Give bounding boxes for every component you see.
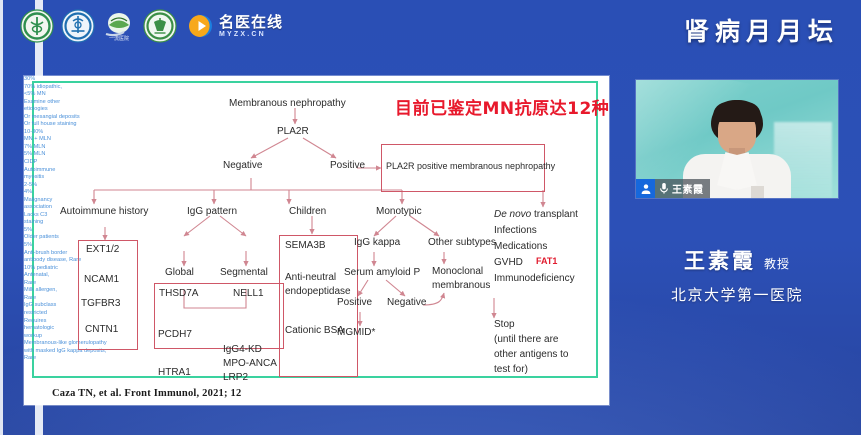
page-title: 肾病月月坛 xyxy=(684,12,839,48)
node-cntn1: CNTN1 xyxy=(85,324,118,336)
node-de-novo-rest: transplant xyxy=(531,209,578,220)
seal-logo-4-icon xyxy=(143,9,177,43)
node-children: Children xyxy=(289,206,326,218)
node-igg-pattern: IgG pattern xyxy=(187,206,237,218)
node-de-novo-transplant: De novo transplant xyxy=(494,209,578,221)
node-pla2r: PLA2R xyxy=(277,126,309,138)
speaker-role: 教授 xyxy=(764,255,790,272)
node-monoclonal-2: membranous xyxy=(432,280,490,292)
node-medications: Medications xyxy=(494,241,547,253)
video-tile[interactable]: 王素霞 xyxy=(636,80,838,198)
seal-logo-1-icon xyxy=(20,9,54,43)
logo-row: 一流医院 xyxy=(20,9,283,43)
speaker-organization: 北京大学第一医院 xyxy=(636,284,838,305)
brand-logo: 名医在线 MYZX.CN xyxy=(188,13,283,39)
speaker-info: 王素霞 教授 北京大学第一医院 xyxy=(636,245,838,305)
header-bar: 一流医院 xyxy=(0,0,861,62)
diagram-canvas: 目前已鉴定MN抗原达12种 Membranous nephropathy PLA… xyxy=(24,76,609,405)
seal-logo-3-icon: 一流医院 xyxy=(102,9,136,43)
node-lrp2: LRP2 xyxy=(223,372,248,384)
webinar-page: 一流医院 xyxy=(0,0,861,435)
node-anti-neutral-1: Anti-neutral xyxy=(285,272,336,284)
node-ncam1: NCAM1 xyxy=(84,274,119,286)
slide-cn-headline: 目前已鉴定MN抗原达12种 xyxy=(395,94,609,119)
node-other-subtypes: Other subtypes xyxy=(428,237,496,249)
node-serum-amyloid-p: Serum amyloid P xyxy=(344,267,420,279)
slide-citation: Caza TN, et al. Front Immunol, 2021; 12 xyxy=(52,388,241,399)
node-ext12: EXT1/2 xyxy=(86,244,119,256)
node-anti-neutral-2: endopeptidase xyxy=(285,286,351,298)
node-immunodeficiency: Immunodeficiency xyxy=(494,273,575,285)
video-name-tag: 王素霞 xyxy=(636,179,710,198)
node-de-novo-italic: De novo xyxy=(494,209,531,220)
node-negative: Negative xyxy=(223,160,262,172)
node-pcdh7: PCDH7 xyxy=(158,329,192,341)
play-button-icon xyxy=(188,13,214,39)
node-cationic-bsa: Cationic BSA xyxy=(285,325,344,337)
node-gvhd: GVHD xyxy=(494,257,523,269)
node-igg-kappa: IgG kappa xyxy=(354,237,400,249)
node-htra1: HTRA1 xyxy=(158,367,191,379)
microphone-icon xyxy=(655,182,672,195)
node-fat1: FAT1 xyxy=(536,256,557,266)
node-stop-line3: other antigens to xyxy=(494,349,569,361)
node-stop-line4: test for) xyxy=(494,364,528,376)
node-nell1: NELL1 xyxy=(233,288,264,300)
left-edge-strip xyxy=(0,0,3,435)
svg-text:一流医院: 一流医院 xyxy=(109,35,129,42)
node-tgfbr3: TGFBR3 xyxy=(81,298,120,310)
node-autoimmune-history: Autoimmune history xyxy=(60,206,148,218)
brand-name: 名医在线 xyxy=(219,15,283,30)
slide-panel: 目前已鉴定MN抗原达12种 Membranous nephropathy PLA… xyxy=(24,76,609,405)
node-monotypic: Monotypic xyxy=(376,206,422,218)
node-monoclonal-1: Monoclonal xyxy=(432,266,483,278)
node-stop: Stop xyxy=(494,319,515,331)
node-infections: Infections xyxy=(494,225,537,237)
video-name-label: 王素霞 xyxy=(672,181,704,196)
user-icon xyxy=(636,179,655,198)
node-global: Global xyxy=(165,267,194,279)
node-negative-2: Negative xyxy=(387,297,426,309)
node-igg4kd: IgG4-KD xyxy=(223,344,262,356)
brand-domain: MYZX.CN xyxy=(219,31,283,38)
node-sema3b: SEMA3B xyxy=(285,240,326,252)
node-mpoanca: MPO-ANCA xyxy=(223,358,277,370)
node-segmental: Segmental xyxy=(220,267,268,279)
node-thsd7a: THSD7A xyxy=(159,288,198,300)
node-mgmid: MGMID* xyxy=(337,327,375,339)
seal-logo-2-icon xyxy=(61,9,95,43)
node-pla2r-positive: PLA2R positive membranous nephropathy xyxy=(386,161,555,171)
node-root: Membranous nephropathy xyxy=(229,98,346,110)
speaker-name: 王素霞 xyxy=(684,245,756,275)
node-stop-line2: (until there are xyxy=(494,334,558,346)
node-positive-2: Positive xyxy=(337,297,372,309)
node-positive: Positive xyxy=(330,160,365,172)
